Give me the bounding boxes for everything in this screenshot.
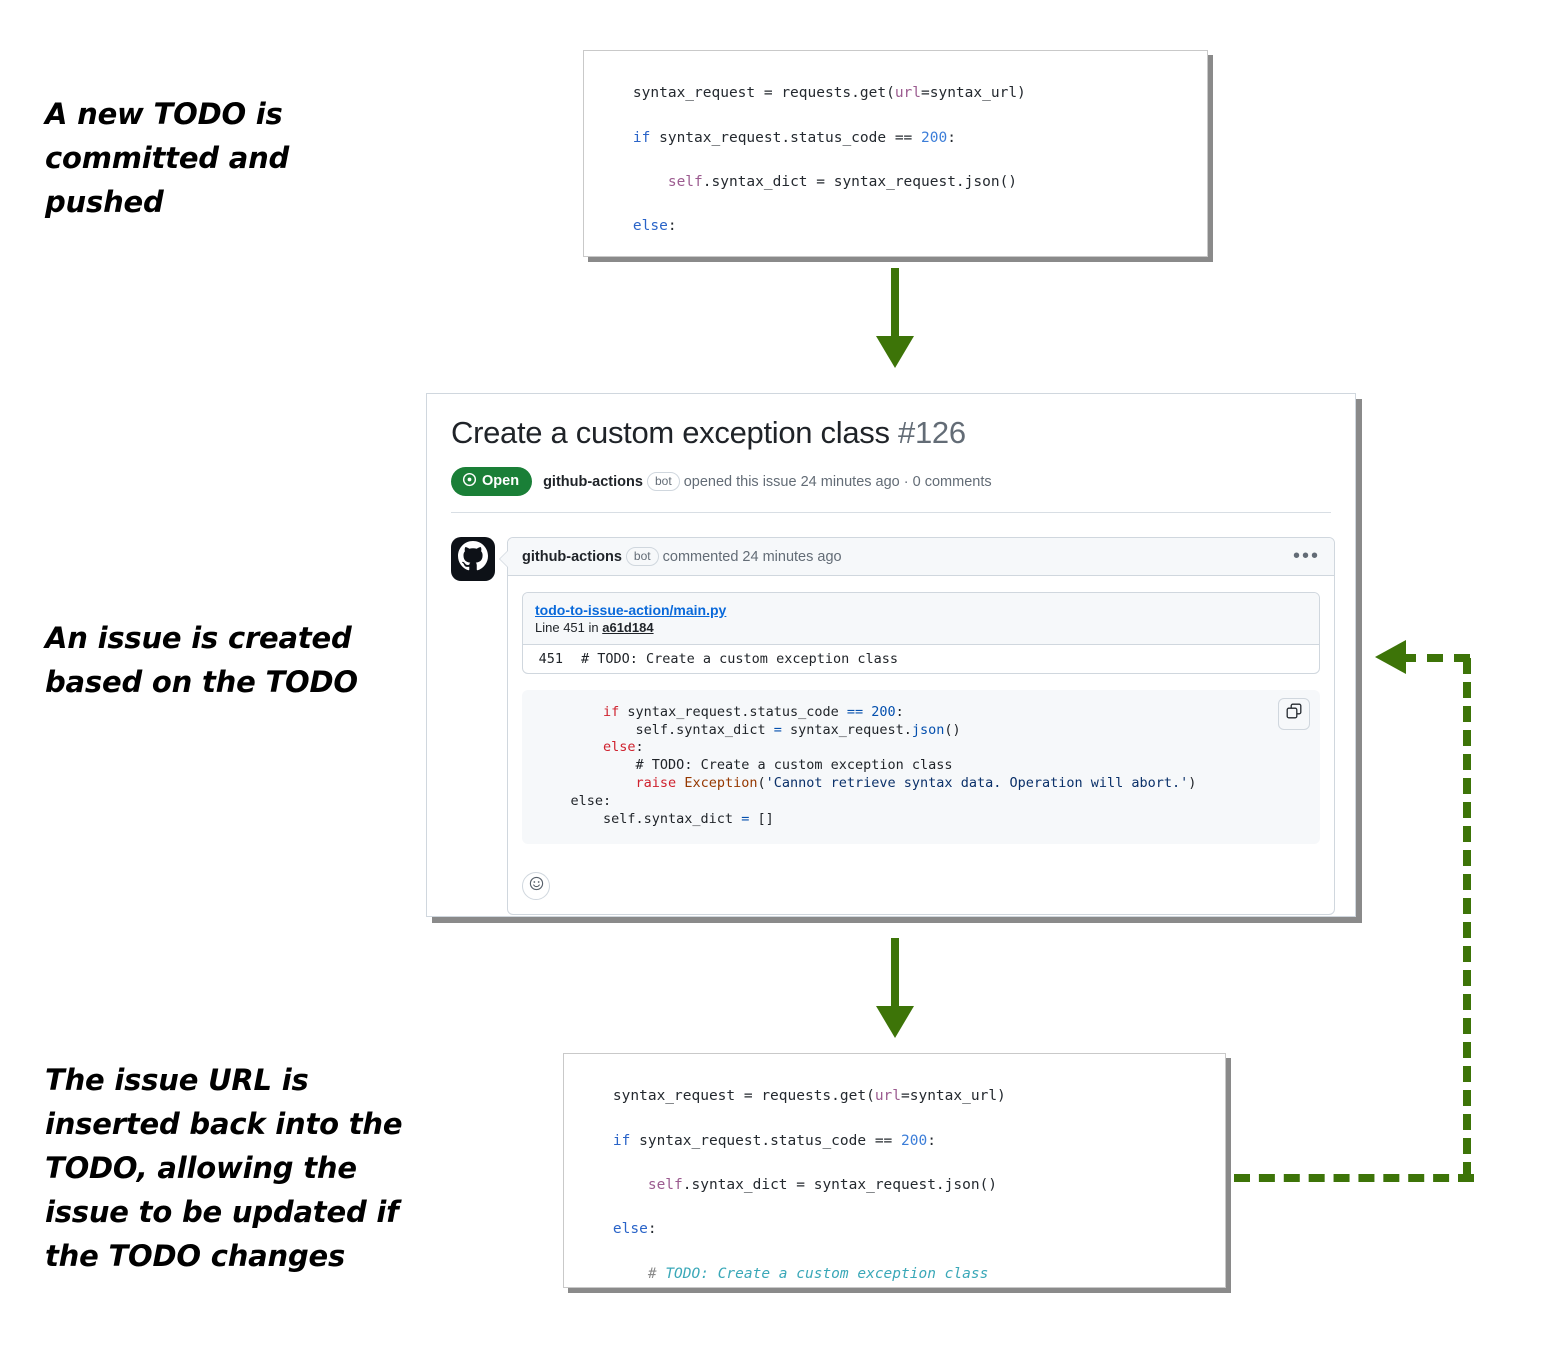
bot-badge: bot — [647, 472, 680, 491]
code-line: if syntax_request.status_code == 200: — [584, 127, 1207, 149]
comment-meta: commented 24 minutes ago — [663, 549, 842, 565]
line-number: 451 — [523, 651, 581, 667]
state-badge-label: Open — [482, 473, 519, 489]
arrow-down-to-updated-code — [875, 938, 915, 1038]
code-permalink-box: todo-to-issue-action/main.py Line 451 in… — [522, 592, 1320, 674]
code-line: self.syntax_dict = syntax_request.json() — [538, 722, 1304, 740]
feedback-loop-segment-bottom — [1234, 1174, 1474, 1182]
comment-body: todo-to-issue-action/main.py Line 451 in… — [508, 576, 1334, 859]
feedback-loop-arrow-head — [1375, 640, 1406, 674]
issue-title-text: Create a custom exception class — [451, 415, 890, 450]
comment-author[interactable]: github-actions — [522, 549, 622, 565]
issue-meta-suffix: opened this issue 24 minutes ago · 0 com… — [684, 474, 992, 490]
code-line: if syntax_request.status_code == 200: — [564, 1130, 1225, 1152]
avatar[interactable] — [451, 537, 495, 581]
permalink-header: todo-to-issue-action/main.py Line 451 in… — [523, 593, 1319, 645]
bot-badge: bot — [626, 547, 659, 566]
code-line: else: — [564, 1218, 1225, 1240]
comment-header: github-actions bot commented 24 minutes … — [508, 538, 1334, 576]
caption-step-2: An issue is created based on the TODO — [45, 616, 385, 704]
code-line: if syntax_request.status_code == 200: — [538, 704, 1304, 722]
arrow-head — [876, 336, 914, 368]
code-line: self.syntax_dict = syntax_request.json() — [584, 171, 1207, 193]
issue-author[interactable]: github-actions — [543, 474, 643, 490]
permalink-commit-sha[interactable]: a61d184 — [602, 620, 653, 635]
comment-box: github-actions bot commented 24 minutes … — [507, 537, 1335, 916]
code-line: syntax_request = requests.get(url=syntax… — [564, 1085, 1225, 1107]
kebab-menu-icon[interactable]: ••• — [1293, 551, 1320, 561]
add-reaction-button[interactable] — [522, 872, 550, 900]
code-line: else: — [538, 793, 1304, 811]
code-box-before: syntax_request = requests.get(url=syntax… — [583, 50, 1208, 257]
code-line: syntax_request = requests.get(url=syntax… — [584, 82, 1207, 104]
permalink-line-info: Line 451 in a61d184 — [535, 620, 654, 635]
arrow-down-to-issue — [875, 268, 915, 368]
code-line: else: — [584, 215, 1207, 237]
code-box-after: syntax_request = requests.get(url=syntax… — [563, 1053, 1226, 1288]
code-line: self.syntax_dict = [] — [538, 811, 1304, 829]
copy-button[interactable] — [1278, 698, 1310, 730]
reaction-row — [508, 858, 1334, 914]
code-line: raise Exception('Cannot retrieve syntax … — [538, 775, 1304, 793]
line-content: # TODO: Create a custom exception class — [581, 651, 898, 667]
arrow-head — [876, 1006, 914, 1038]
issue-header: Create a custom exception class #126 Ope… — [427, 394, 1355, 496]
arrow-shaft — [891, 938, 899, 1008]
permalink-file-link[interactable]: todo-to-issue-action/main.py — [535, 601, 1307, 619]
comment-byline: github-actions bot commented 24 minutes … — [522, 547, 1293, 566]
github-issue-card: Create a custom exception class #126 Ope… — [426, 393, 1356, 917]
github-octocat-icon — [458, 541, 488, 576]
comment-pointer — [500, 551, 508, 567]
copy-icon — [1286, 703, 1302, 725]
issue-opened-icon — [462, 472, 477, 491]
feedback-loop-segment-right — [1463, 658, 1471, 1178]
code-line-todo: # TODO: Create a custom exception class — [564, 1263, 1225, 1285]
arrow-shaft — [891, 268, 899, 338]
code-line: # TODO: Create a custom exception class — [538, 757, 1304, 775]
permalink-line-prefix: Line 451 in — [535, 620, 602, 635]
comment-wrapper: github-actions bot commented 24 minutes … — [427, 513, 1355, 916]
issue-meta-row: Open github-actions bot opened this issu… — [451, 467, 1331, 496]
issue-number: #126 — [898, 415, 966, 450]
code-line: else: — [538, 739, 1304, 757]
status-badge[interactable]: Open — [451, 467, 532, 496]
permalink-code-line: 451 # TODO: Create a custom exception cl… — [523, 645, 1319, 673]
caption-step-3: The issue URL is inserted back into the … — [45, 1058, 405, 1278]
page-title: Create a custom exception class #126 — [451, 414, 1331, 453]
issue-byline: github-actions bot opened this issue 24 … — [543, 472, 992, 491]
code-snippet-block: if syntax_request.status_code == 200: se… — [522, 690, 1320, 845]
code-line: self.syntax_dict = syntax_request.json() — [564, 1174, 1225, 1196]
caption-step-1: A new TODO is committed and pushed — [45, 92, 345, 224]
smiley-icon — [529, 876, 544, 896]
feedback-loop-segment-top — [1400, 654, 1470, 662]
